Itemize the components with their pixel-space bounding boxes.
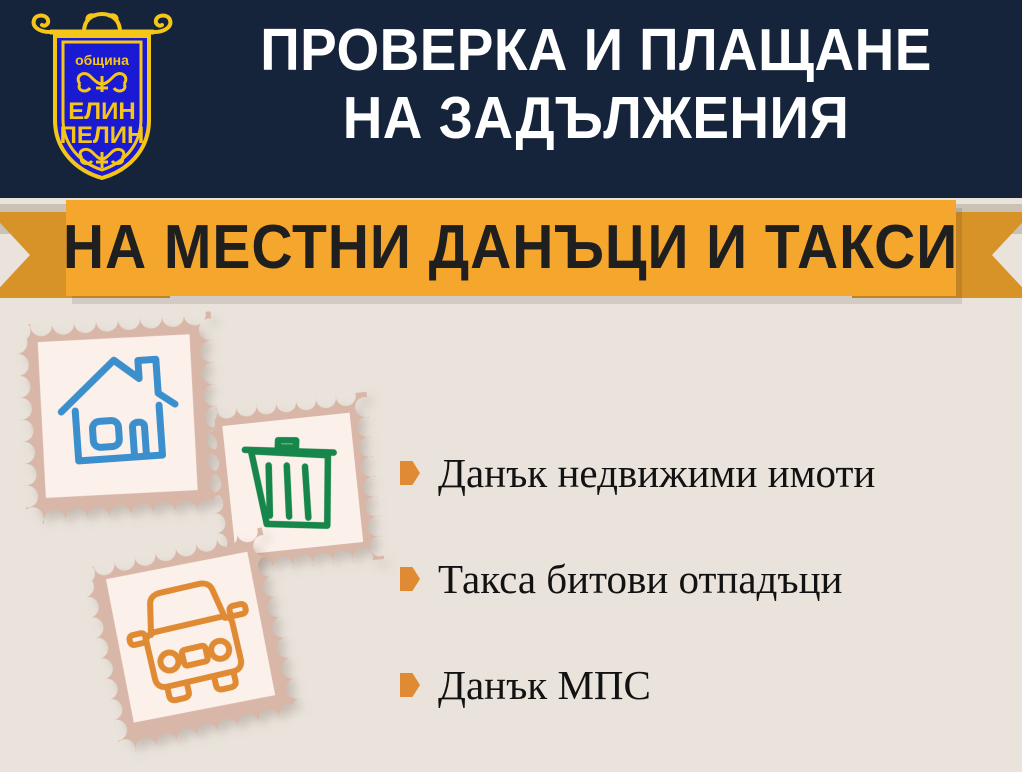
arrow-bullet-icon	[400, 673, 420, 697]
list-item-label: Данък недвижими имоти	[438, 451, 875, 495]
logo-top-label: община	[75, 52, 129, 68]
logo-main-line1: ЕЛИН	[68, 98, 135, 125]
list-item[interactable]: Такса битови отпадъци	[400, 526, 1010, 632]
header-bar: община ЕЛИН ПЕЛИН	[0, 0, 1022, 198]
list-item-label: Данък МПС	[438, 663, 651, 707]
list-item[interactable]: Данък недвижими имоти	[400, 420, 1010, 526]
poster-canvas: община ЕЛИН ПЕЛИН	[0, 0, 1022, 772]
ribbon-label: НА МЕСТНИ ДАНЪЦИ И ТАКСИ	[63, 217, 958, 279]
list-item[interactable]: Данък МПС	[400, 632, 1010, 738]
municipality-logo: община ЕЛИН ПЕЛИН	[22, 8, 182, 188]
poster-title: ПРОВЕРКА И ПЛАЩАНЕ НА ЗАДЪЛЖЕНИЯ	[190, 16, 1002, 152]
arrow-bullet-icon	[400, 461, 420, 485]
coat-of-arms-icon: община ЕЛИН ПЕЛИН	[22, 8, 182, 188]
title-line-2: НА ЗАДЪЛЖЕНИЯ	[218, 84, 973, 152]
ribbon-banner: НА МЕСТНИ ДАНЪЦИ И ТАКСИ	[66, 200, 956, 296]
list-item-label: Такса битови отпадъци	[438, 557, 842, 601]
subtitle-ribbon: НА МЕСТНИ ДАНЪЦИ И ТАКСИ	[0, 198, 1022, 318]
title-line-1: ПРОВЕРКА И ПЛАЩАНЕ	[218, 16, 973, 84]
logo-main-line2: ПЕЛИН	[60, 122, 145, 149]
services-list: Данък недвижими имоти Такса битови отпад…	[400, 420, 1010, 738]
arrow-bullet-icon	[400, 567, 420, 591]
